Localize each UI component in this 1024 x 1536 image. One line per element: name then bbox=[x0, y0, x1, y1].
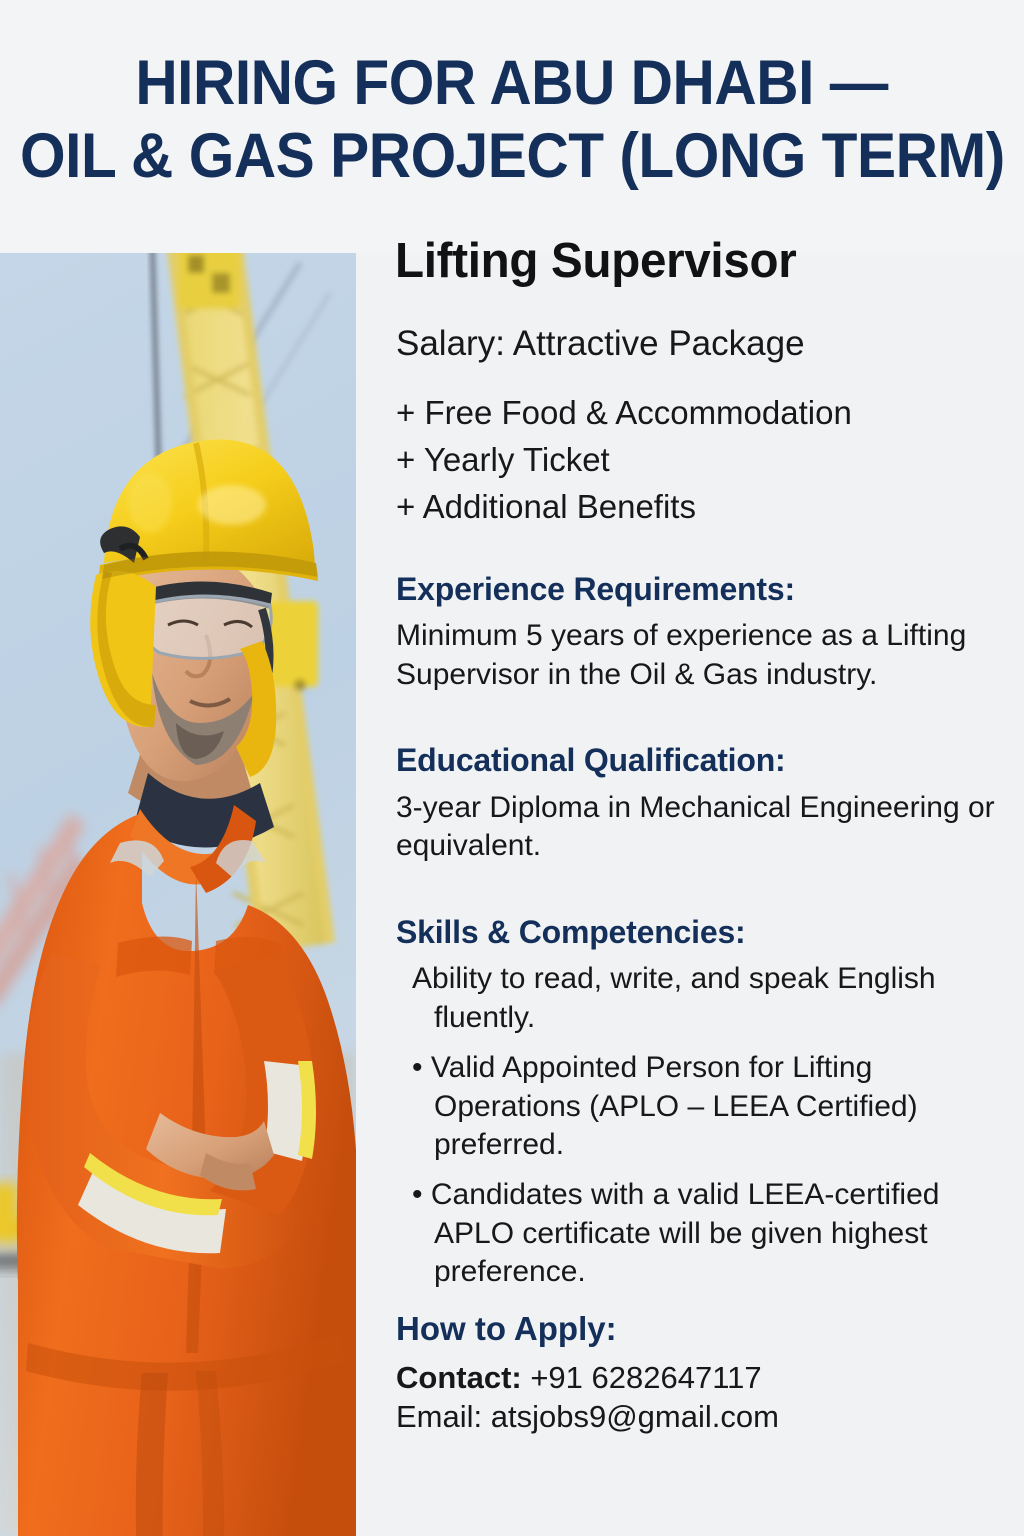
skill-text: Valid Appointed Person for Lifting Opera… bbox=[431, 1051, 918, 1161]
job-poster: HIRING FOR ABU DHABI — OIL & GAS PROJECT… bbox=[0, 0, 1024, 1536]
skill-text: Candidates with a valid LEEA-certified A… bbox=[431, 1178, 940, 1288]
bullet-icon: • bbox=[412, 1051, 423, 1084]
skill-text: Ability to read, write, and speak Englis… bbox=[412, 962, 936, 1033]
job-details: Lifting Supervisor Salary: Attractive Pa… bbox=[380, 236, 1024, 1437]
poster-header: HIRING FOR ABU DHABI — OIL & GAS PROJECT… bbox=[0, 0, 1024, 253]
education-body: 3-year Diploma in Mechanical Engineering… bbox=[396, 789, 1014, 866]
job-title: Lifting Supervisor bbox=[395, 236, 995, 287]
skill-item: Ability to read, write, and speak Englis… bbox=[412, 960, 1014, 1037]
experience-heading: Experience Requirements: bbox=[396, 571, 1014, 608]
contact-label: Contact: bbox=[396, 1360, 522, 1395]
worker-photo-illustration bbox=[0, 253, 356, 1536]
how-to-apply-section: How to Apply: Contact: +91 6282647117 Em… bbox=[396, 1310, 1014, 1437]
skills-heading: Skills & Competencies: bbox=[396, 914, 1014, 951]
apply-heading: How to Apply: bbox=[396, 1310, 1014, 1348]
benefits-list: + Free Food & Accommodation + Yearly Tic… bbox=[396, 390, 1014, 531]
skills-section: Skills & Competencies: Ability to read, … bbox=[396, 914, 1014, 1292]
experience-body: Minimum 5 years of experience as a Lifti… bbox=[396, 617, 1014, 694]
skill-item: • Valid Appointed Person for Lifting Ope… bbox=[412, 1049, 1014, 1164]
experience-section: Experience Requirements: Minimum 5 years… bbox=[396, 571, 1014, 695]
contact-phone[interactable]: +91 6282647117 bbox=[522, 1360, 762, 1395]
poster-title-line-1: HIRING FOR ABU DHABI — bbox=[136, 52, 889, 115]
email-address[interactable]: atsjobs9@gmail.com bbox=[482, 1399, 779, 1434]
contact-line: Contact: +91 6282647117 bbox=[396, 1358, 1014, 1398]
skill-item: • Candidates with a valid LEEA-certified… bbox=[412, 1176, 1014, 1291]
bullet-icon: • bbox=[412, 1178, 423, 1211]
skills-list: Ability to read, write, and speak Englis… bbox=[412, 960, 1014, 1291]
salary-line: Salary: Attractive Package bbox=[396, 325, 1014, 364]
benefit-item: + Additional Benefits bbox=[396, 484, 1014, 531]
education-heading: Educational Qualification: bbox=[396, 742, 1014, 779]
education-section: Educational Qualification: 3-year Diplom… bbox=[396, 742, 1014, 866]
benefit-item: + Free Food & Accommodation bbox=[396, 390, 1014, 437]
worker-photo bbox=[0, 253, 356, 1536]
spacer bbox=[380, 702, 1014, 742]
benefit-item: + Yearly Ticket bbox=[396, 437, 1014, 484]
poster-title-line-2: OIL & GAS PROJECT (LONG TERM) bbox=[20, 125, 1005, 188]
email-line: Email: atsjobs9@gmail.com bbox=[396, 1397, 1014, 1437]
email-label: Email: bbox=[396, 1399, 482, 1434]
spacer bbox=[380, 874, 1014, 914]
